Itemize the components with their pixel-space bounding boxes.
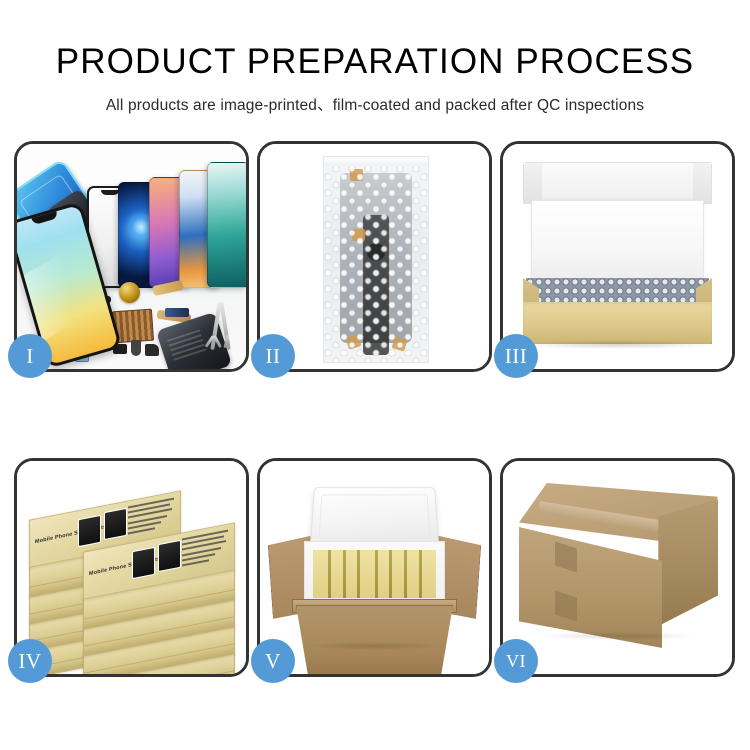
header: PRODUCT PREPARATION PROCESS All products… <box>0 0 750 115</box>
box-front-panel <box>523 302 712 344</box>
yellow-boxes-inside <box>313 550 436 598</box>
box-stack: Mobile Phone Spare Parts Mobile Phone Sp… <box>27 477 236 658</box>
phone-screen-teal-icon <box>207 162 246 288</box>
step-badge-2: II <box>251 334 295 378</box>
carton-front-panel <box>519 527 662 648</box>
panel-4-image: Mobile Phone Spare Parts Mobile Phone Sp… <box>17 461 246 674</box>
step-badge-6: VI <box>494 639 538 683</box>
panel-2-image <box>260 144 489 369</box>
small-part-5-icon <box>145 344 159 356</box>
drop-shadow <box>306 642 443 650</box>
speaker-coil-icon <box>119 282 140 303</box>
product-preparation-infographic: PRODUCT PREPARATION PROCESS All products… <box>0 0 750 750</box>
carton-front-panel <box>296 605 453 674</box>
foam-lined-box-illustration <box>503 144 732 369</box>
box-artwork-screen-icon <box>158 540 181 572</box>
bubble-wrapped-screen-illustration <box>260 144 489 369</box>
box-feature-list <box>128 498 174 538</box>
process-step-panel-6: VI <box>500 458 735 677</box>
box-artwork-screen-icon <box>132 547 155 579</box>
process-step-grid: I II <box>14 141 736 677</box>
small-part-4-icon <box>131 340 141 356</box>
step-badge-5: V <box>251 639 295 683</box>
stacked-boxes-illustration: Mobile Phone Spare Parts Mobile Phone Sp… <box>17 461 246 674</box>
panel-6-image <box>503 461 732 674</box>
box-lid-flap <box>523 162 712 204</box>
bubble-wrap-bag <box>323 156 429 363</box>
drop-shadow <box>539 632 698 640</box>
box-artwork-screen-icon <box>104 508 127 540</box>
page-subtitle: All products are image-printed、film-coat… <box>0 81 750 115</box>
screens-and-parts-illustration <box>17 144 246 369</box>
phone-fan-group <box>87 158 246 288</box>
styrofoam-in-carton-illustration <box>260 461 489 674</box>
step-badge-1: I <box>8 334 52 378</box>
process-step-panel-5: V <box>257 458 492 677</box>
box-artwork-screen-icon <box>78 515 101 547</box>
open-carton <box>274 479 475 656</box>
process-step-panel-3: III <box>500 141 735 372</box>
sealed-carton <box>519 483 718 648</box>
step-badge-4: IV <box>8 639 52 683</box>
page-title: PRODUCT PREPARATION PROCESS <box>0 0 750 81</box>
step-badge-3: III <box>494 334 538 378</box>
panel-3-image <box>503 144 732 369</box>
sealed-carton-illustration <box>503 461 732 674</box>
drop-shadow <box>521 340 713 349</box>
screws-icon <box>206 335 236 351</box>
open-kraft-box <box>523 162 712 331</box>
box-feature-list <box>182 530 228 570</box>
bubble-wrap-texture <box>324 157 428 362</box>
bag-seal <box>324 157 428 167</box>
panel-1-image <box>17 144 246 369</box>
carton-side-panel <box>658 499 718 626</box>
small-part-7-icon <box>165 308 189 317</box>
styrofoam-lid <box>310 487 440 547</box>
process-step-panel-1: I <box>14 141 249 372</box>
process-step-panel-2: II <box>257 141 492 372</box>
white-foam-sheet <box>531 200 704 280</box>
process-step-panel-4: Mobile Phone Spare Parts Mobile Phone Sp… <box>14 458 249 677</box>
panel-5-image <box>260 461 489 674</box>
